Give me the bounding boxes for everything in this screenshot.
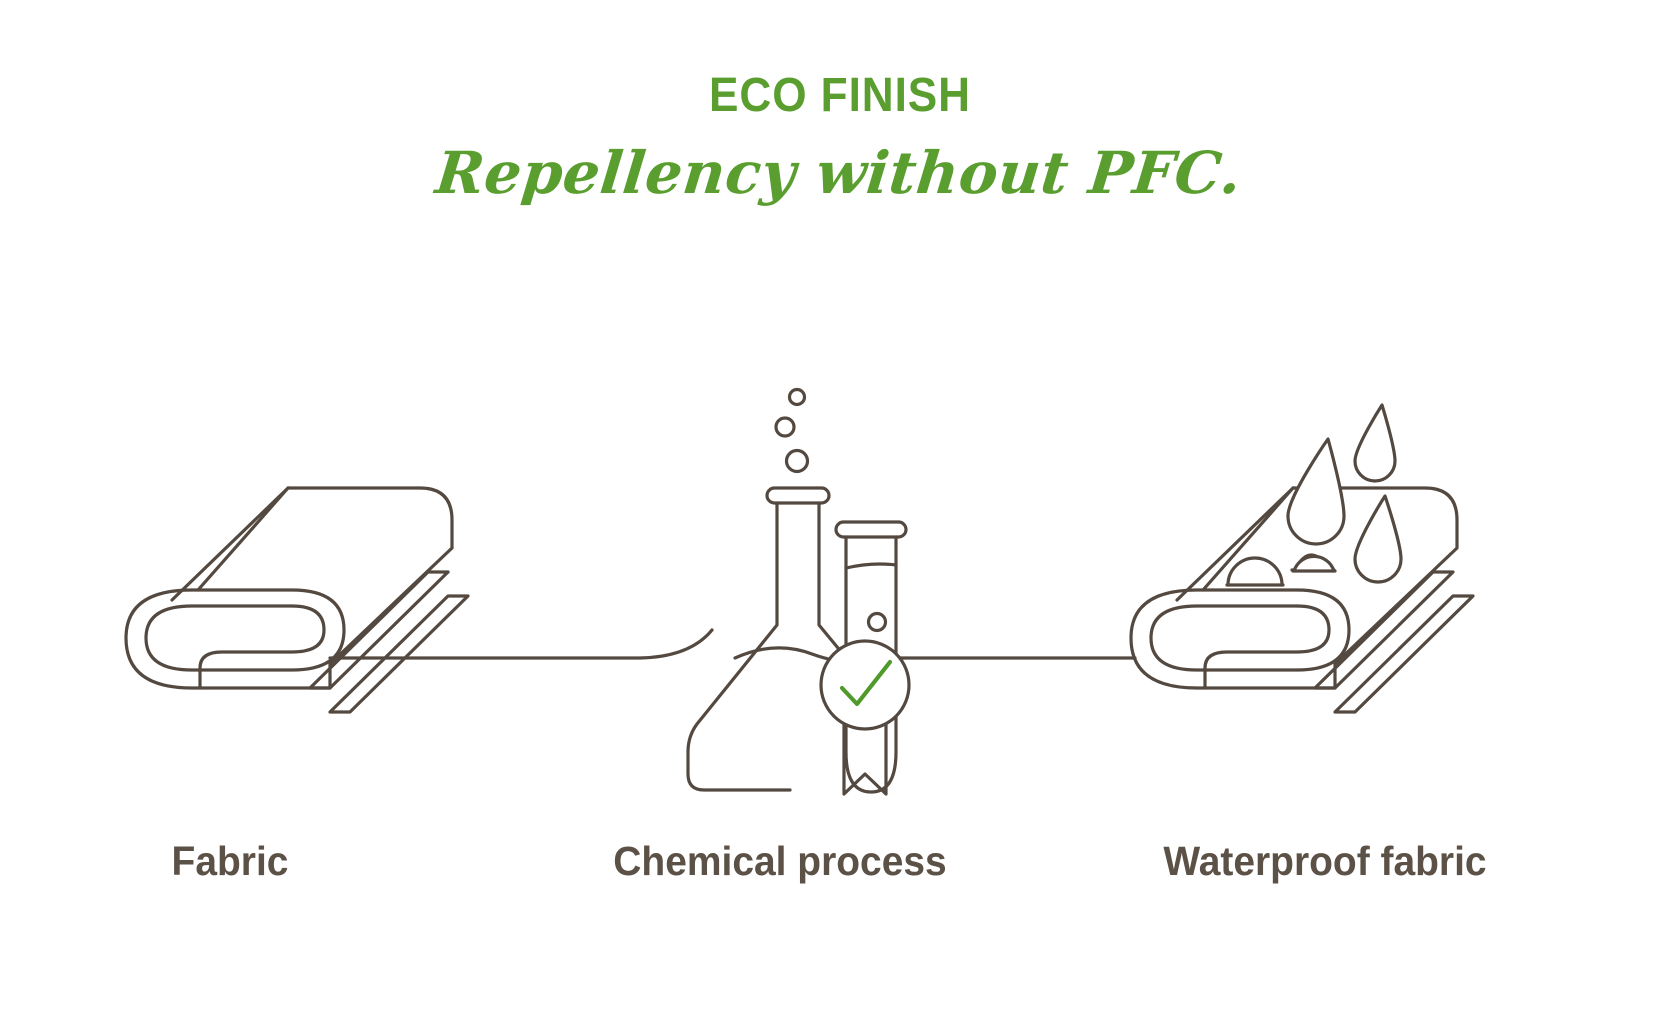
page-subtitle: Repellency without PFC. [0,120,1680,202]
illustration [0,300,1680,820]
page-title: ECO FINISH [67,0,1613,120]
step-label-chemical-process: Chemical process [571,838,989,885]
step-label-fabric: Fabric [12,838,449,885]
folded-fabric-with-droplets-icon [1131,405,1473,712]
illustration-svg [0,300,1680,820]
step-labels: Fabric Chemical process Waterproof fabri… [0,838,1680,928]
header: ECO FINISH Repellency without PFC. [0,0,1680,202]
eco-finish-infographic: ECO FINISH Repellency without PFC. [0,0,1680,1034]
flask-and-test-tube-icon [330,390,909,795]
erlenmeyer-flask-icon [330,488,884,790]
approved-badge [821,641,909,794]
flask-bubbles [776,390,808,472]
beaded-droplets [1227,555,1335,585]
step-label-waterproof-fabric: Waterproof fabric [1088,838,1563,885]
